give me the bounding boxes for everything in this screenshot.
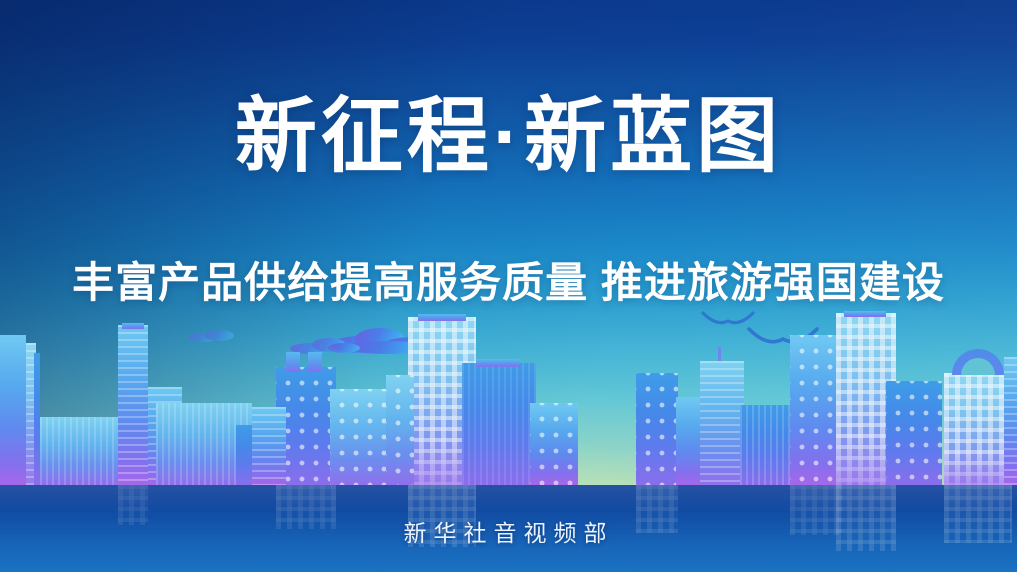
page-title: 新征程·新蓝图 bbox=[0, 96, 1017, 178]
arched-roof-icon bbox=[952, 349, 1004, 375]
page-subtitle: 丰富产品供给提高服务质量 推进旅游强国建设 bbox=[0, 262, 1017, 304]
poster-canvas: 新征程·新蓝图 丰富产品供给提高服务质量 推进旅游强国建设 新华社音视频部 bbox=[0, 0, 1017, 572]
credit-line: 新华社音视频部 bbox=[0, 514, 1017, 548]
